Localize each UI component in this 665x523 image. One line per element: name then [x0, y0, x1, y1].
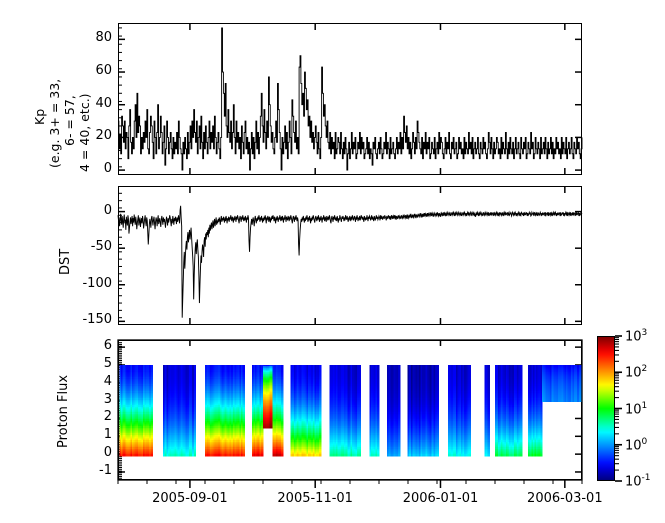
colorbar-tick-base: 10 [625, 474, 642, 489]
colorbar-tick-label: 101 [625, 401, 647, 417]
x-axis-tick-label: 2006-01-01 [385, 491, 495, 506]
colorbar-tick-base: 10 [625, 366, 642, 381]
colorbar-tick-label: 100 [625, 437, 647, 453]
colorbar-tick-exponent: 3 [642, 328, 648, 338]
colorbar-tick-label: 102 [625, 364, 647, 380]
kp-tick-label: 0 [68, 161, 112, 176]
flux-tick-label: 2 [68, 409, 112, 424]
x-axis-tick-label: 2005-09-01 [135, 491, 245, 506]
colorbar-gradient [597, 336, 615, 481]
x-axis-tick-label: 2005-11-01 [260, 491, 370, 506]
space-weather-figure: Kp (e.g. 3+ = 33, 6- = 57, 4 = 40, etc.)… [0, 0, 665, 523]
flux-tick-label: 1 [68, 427, 112, 442]
dst-tick-label: -100 [68, 276, 112, 291]
dst-tick-label: -50 [68, 239, 112, 254]
kp-tick-label: 60 [68, 63, 112, 78]
flux-tick-label: 0 [68, 445, 112, 460]
kp-panel [118, 23, 582, 175]
kp-axis-label-line-0: Kp [32, 109, 47, 125]
colorbar-tick-label: 10-1 [625, 473, 651, 489]
proton-flux-panel [118, 340, 582, 480]
colorbar: 10310210110010-1 [597, 336, 665, 484]
colorbar-tick-base: 10 [625, 438, 642, 453]
dst-tick-label: 0 [68, 203, 112, 218]
x-axis-tick-label: 2006-03-01 [510, 491, 620, 506]
flux-tick-label: 6 [68, 338, 112, 353]
colorbar-tick-base: 10 [625, 329, 642, 344]
flux-tick-label: -1 [68, 463, 112, 478]
flux-tick-label: 5 [68, 356, 112, 371]
colorbar-tick-base: 10 [625, 402, 642, 417]
kp-tick-label: 80 [68, 30, 112, 45]
colorbar-tick-exponent: 2 [642, 364, 648, 374]
colorbar-tick-exponent: 0 [642, 437, 648, 447]
kp-axis-label-line-1: (e.g. 3+ = 33, [47, 79, 62, 168]
flux-tick-label: 3 [68, 392, 112, 407]
colorbar-tick-label: 103 [625, 328, 647, 344]
dst-tick-label: -150 [68, 312, 112, 327]
dst-panel [118, 186, 582, 325]
kp-tick-label: 40 [68, 96, 112, 111]
colorbar-tick-exponent: -1 [642, 473, 651, 483]
colorbar-tick-exponent: 1 [642, 401, 648, 411]
flux-tick-label: 4 [68, 374, 112, 389]
kp-tick-label: 20 [68, 128, 112, 143]
